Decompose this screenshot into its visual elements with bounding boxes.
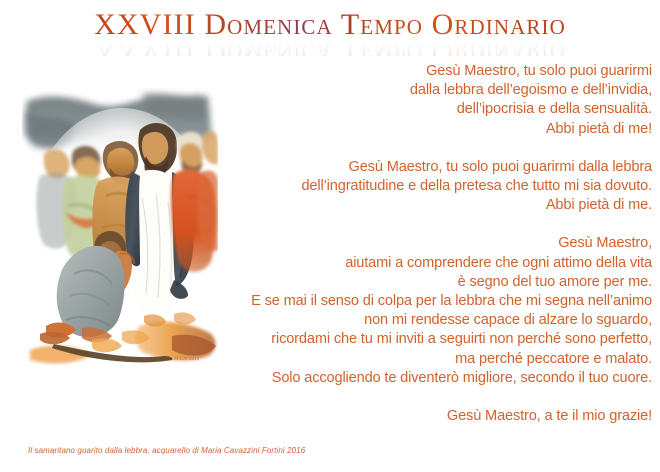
prayer-line: E se mai il senso di colpa per la lebbra… <box>226 292 652 311</box>
prayer-line: non mi rendesse capace di alzare lo sgua… <box>226 311 652 330</box>
prayer-line: Abbi pietà di me. <box>226 196 652 215</box>
artist-signature: M.C.F. 2016 <box>174 357 200 362</box>
page-title: XXVIII Domenica Tempo Ordinario <box>94 8 566 42</box>
prayer-line: dell’ipocrisia e della sensualità. <box>226 100 652 119</box>
slide-page: XXVIII Domenica Tempo Ordinario XXVIII D… <box>0 0 660 472</box>
prayer-line: Gesù Maestro, <box>226 234 652 253</box>
prayer-line: Gesù Maestro, a te il mio grazie! <box>226 407 652 426</box>
stanza-2: Gesù Maestro, tu solo puoi guarirmi dall… <box>226 158 652 216</box>
prayer-line: Gesù Maestro, tu solo puoi guarirmi dall… <box>226 158 652 177</box>
prayer-line: dell’ingratitudine e della pretesa che t… <box>226 177 652 196</box>
artwork-caption: Il samaritano guarito dalla lebbra, acqu… <box>28 446 305 455</box>
prayer-line: dalla lebbra dell’egoismo e dell’invidia… <box>226 81 652 100</box>
prayer-line: Solo accogliendo te diventerò migliore, … <box>226 369 652 388</box>
prayer-text: Gesù Maestro, tu solo puoi guarirmi dall… <box>226 62 652 426</box>
prayer-line: ricordami che tu mi inviti a seguirti no… <box>226 330 652 349</box>
stanza-3: Gesù Maestro, aiutami a comprendere che … <box>226 234 652 388</box>
stanza-4: Gesù Maestro, a te il mio grazie! <box>226 407 652 426</box>
prayer-line: aiutami a comprendere che ogni attimo de… <box>226 254 652 273</box>
prayer-line: è segno del tuo amore per me. <box>226 273 652 292</box>
stanza-1: Gesù Maestro, tu solo puoi guarirmi dall… <box>226 62 652 139</box>
watercolor-illustration: M.C.F. 2016 <box>22 88 218 398</box>
prayer-line: Gesù Maestro, tu solo puoi guarirmi <box>226 62 652 81</box>
prayer-line: ma perché peccatore e malato. <box>226 350 652 369</box>
page-title-area: XXVIII Domenica Tempo Ordinario <box>0 8 660 60</box>
prayer-line: Abbi pietà di me! <box>226 120 652 139</box>
artwork-image: M.C.F. 2016 <box>22 88 218 398</box>
